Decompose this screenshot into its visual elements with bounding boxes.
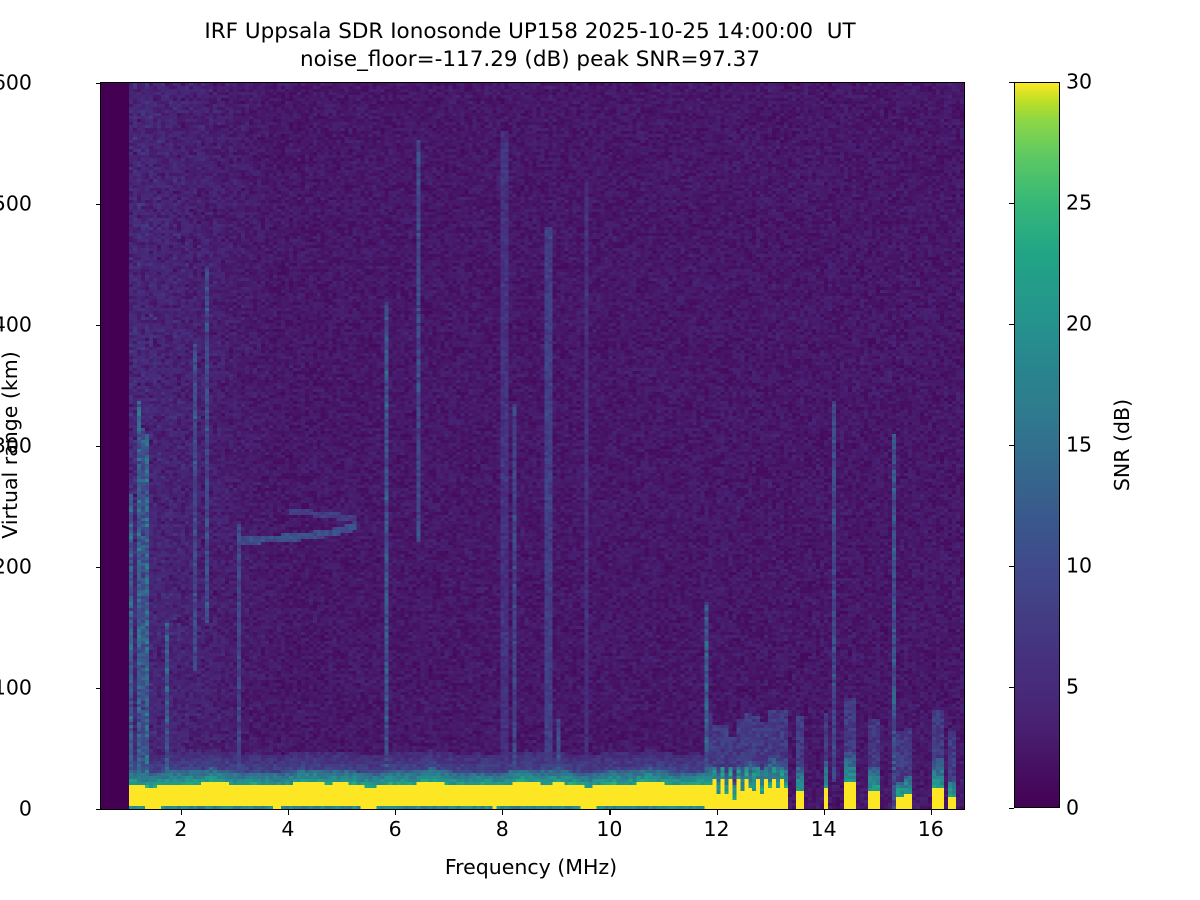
y-tick-label: 200 (0, 555, 32, 579)
y-tick-label: 400 (0, 313, 32, 337)
x-tick-label: 4 (281, 817, 294, 841)
colorbar: 051015202530 (1014, 82, 1060, 808)
colorbar-tick-label: 15 (1066, 433, 1092, 457)
colorbar-tick-mark (1009, 687, 1015, 688)
figure-title: IRF Uppsala SDR Ionosonde UP158 2025-10-… (0, 18, 1060, 74)
colorbar-tick-label: 0 (1066, 796, 1079, 820)
x-tick-label: 10 (596, 817, 622, 841)
x-tick-label: 8 (496, 817, 509, 841)
x-tick-mark (609, 809, 610, 815)
x-tick-mark (181, 809, 182, 815)
ionogram-figure: IRF Uppsala SDR Ionosonde UP158 2025-10-… (0, 0, 1200, 900)
colorbar-tick-label: 5 (1066, 675, 1079, 699)
y-tick-mark (96, 204, 102, 205)
title-line-2: noise_floor=-117.29 (dB) peak SNR=97.37 (0, 46, 1060, 74)
x-tick-mark (502, 809, 503, 815)
x-tick-label: 6 (389, 817, 402, 841)
y-tick-mark (96, 325, 102, 326)
colorbar-tick-label: 20 (1066, 312, 1092, 336)
y-axis-label: Virtual range (km) (0, 351, 22, 538)
y-tick-label: 500 (0, 192, 32, 216)
x-tick-label: 16 (918, 817, 944, 841)
colorbar-label: SNR (dB) (1110, 399, 1134, 491)
x-tick-mark (824, 809, 825, 815)
title-line-1: IRF Uppsala SDR Ionosonde UP158 2025-10-… (0, 18, 1060, 46)
x-tick-label: 2 (174, 817, 187, 841)
x-tick-mark (395, 809, 396, 815)
y-tick-mark (96, 83, 102, 84)
colorbar-tick-mark (1009, 566, 1015, 567)
y-tick-mark (96, 446, 102, 447)
x-tick-mark (717, 809, 718, 815)
x-tick-mark (288, 809, 289, 815)
y-tick-mark (96, 809, 102, 810)
x-tick-mark (931, 809, 932, 815)
plot-axes: 0100200300400500600 246810121416 (100, 82, 965, 810)
colorbar-tick-mark (1009, 445, 1015, 446)
colorbar-tick-mark (1009, 203, 1015, 204)
y-tick-mark (96, 688, 102, 689)
x-axis-label: Frequency (MHz) (445, 855, 617, 879)
x-tick-label: 12 (703, 817, 729, 841)
colorbar-tick-mark (1009, 808, 1015, 809)
colorbar-tick-label: 10 (1066, 554, 1092, 578)
colorbar-tick-label: 30 (1066, 70, 1092, 94)
colorbar-tick-label: 25 (1066, 191, 1092, 215)
y-tick-mark (96, 567, 102, 568)
colorbar-tick-mark (1009, 82, 1015, 83)
y-tick-label: 0 (19, 797, 32, 821)
colorbar-tick-mark (1009, 324, 1015, 325)
colorbar-gradient (1014, 82, 1060, 808)
y-tick-label: 100 (0, 676, 32, 700)
y-tick-label: 600 (0, 71, 32, 95)
ionogram-heatmap (101, 83, 964, 809)
x-tick-label: 14 (811, 817, 837, 841)
